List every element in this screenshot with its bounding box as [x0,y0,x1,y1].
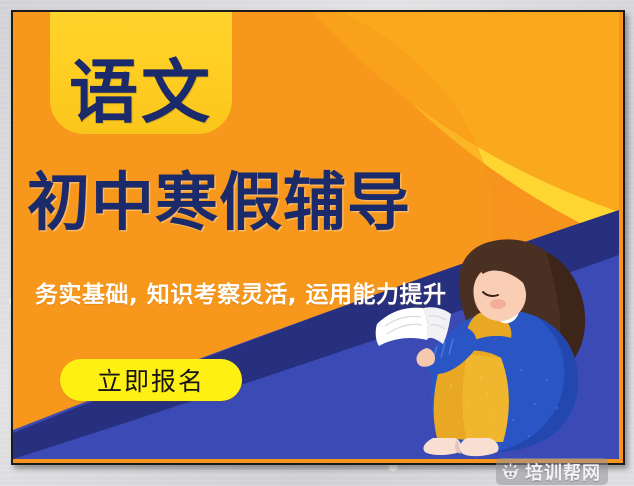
illustration-svg [371,208,621,463]
course-promo-poster: 语文 初中寒假辅导 务实基础, 知识考察灵活, 运用能力提升 立即报名 [11,10,625,465]
poster-inner: 语文 初中寒假辅导 务实基础, 知识考察灵活, 运用能力提升 立即报名 [13,12,623,463]
enroll-now-button[interactable]: 立即报名 [60,359,242,401]
screenshot-canvas: 语文 初中寒假辅导 务实基础, 知识考察灵活, 运用能力提升 立即报名 [0,0,634,486]
shoe-right [460,438,499,456]
watermark-label: 培训帮网 [525,459,601,485]
sun-face-icon [501,462,520,481]
face-eye-left [507,472,510,475]
sun-rays [503,464,518,470]
subject-badge-label: 语文 [69,59,213,128]
trousers-light [463,354,509,442]
subject-badge: 语文 [50,12,232,134]
poster-headline: 初中寒假辅导 [27,171,411,234]
cheek-blush [490,299,506,309]
watermark: 培训帮网 [496,458,608,485]
face-eye-right [511,472,514,475]
enroll-now-label: 立即报名 [97,362,205,398]
girl-reading-book-icon [371,208,621,463]
